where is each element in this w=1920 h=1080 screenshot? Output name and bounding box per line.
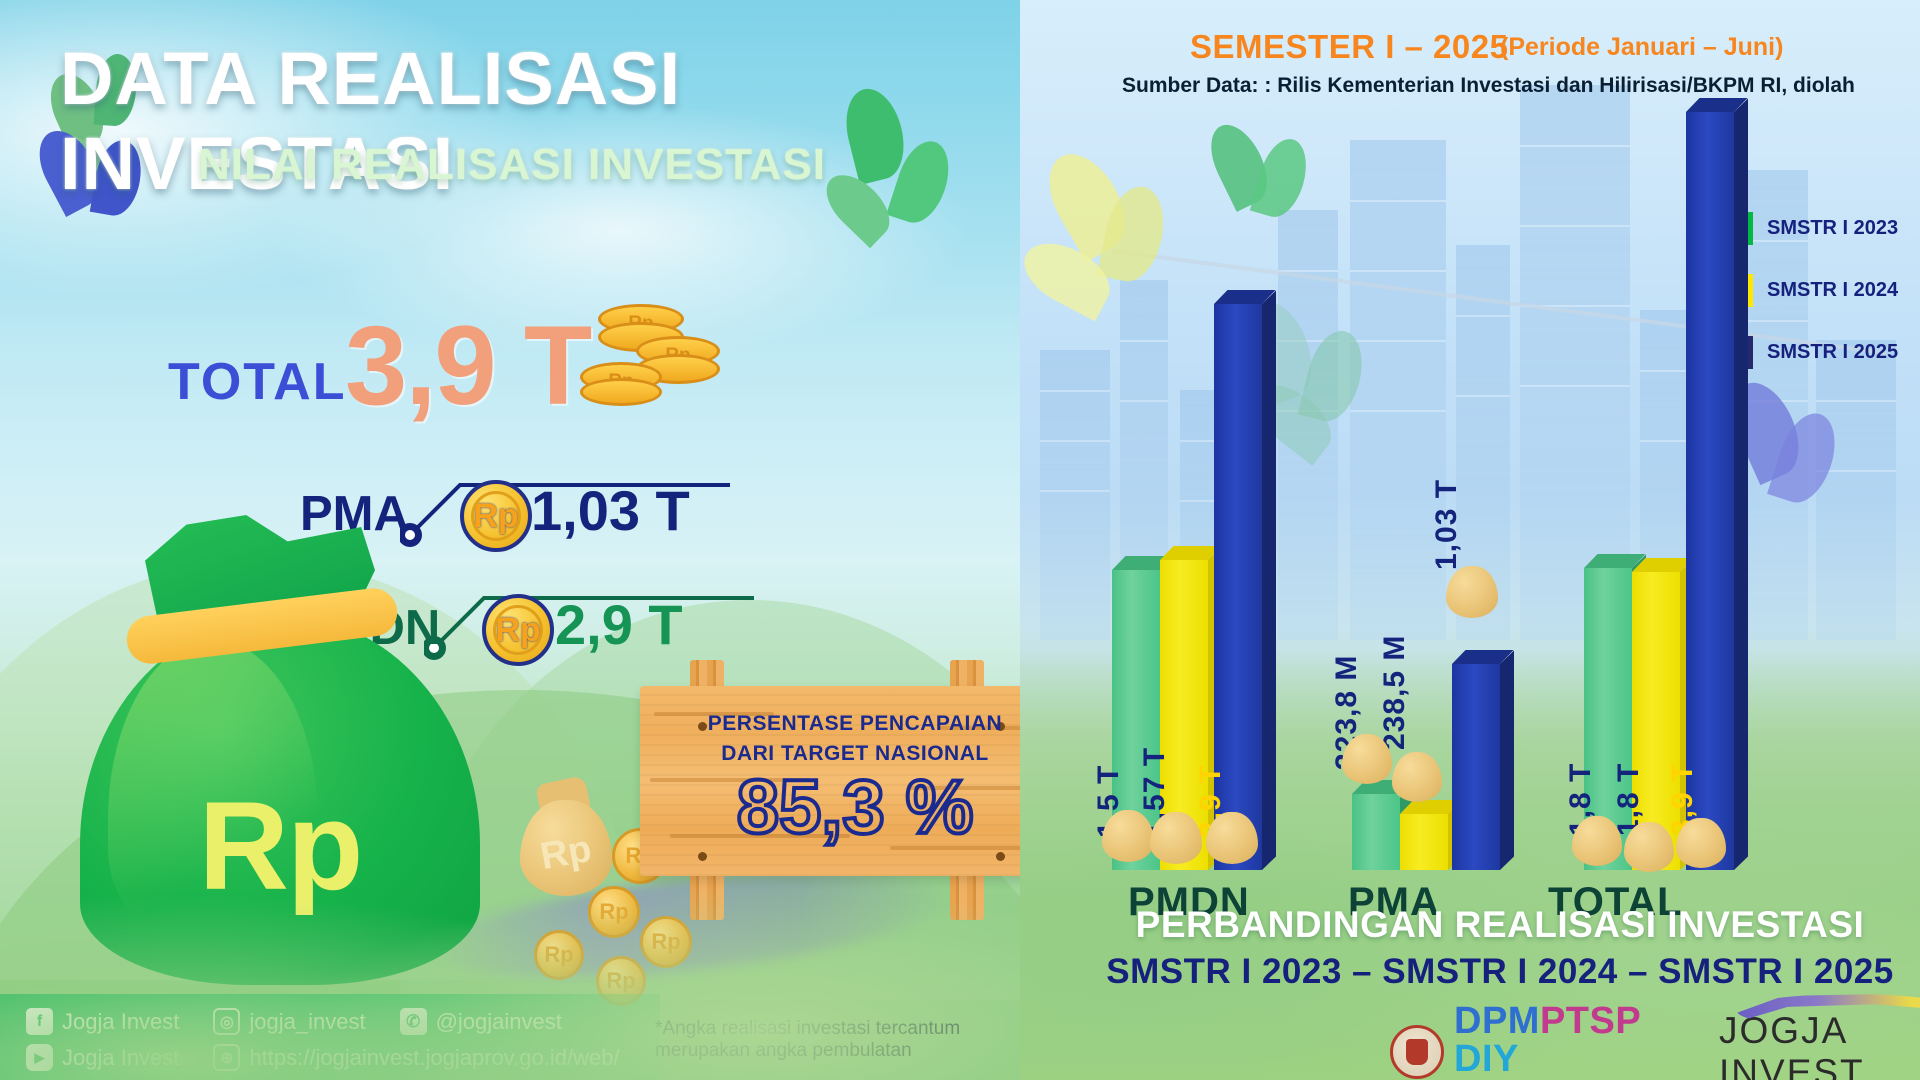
social-item-facebook[interactable]: f Jogja Invest <box>26 1008 179 1035</box>
footnote-text: *Angka realisasi investasi tercantum mer… <box>655 1018 1020 1062</box>
chart-caption-secondary: SMSTR I 2023 – SMSTR I 2024 – SMSTR I 20… <box>1105 952 1895 992</box>
social-item-youtube[interactable]: ▶ Jogja Invest <box>26 1044 179 1071</box>
semester-period: (Periode Januari – Juni) <box>1500 33 1783 62</box>
diy-emblem-icon <box>1390 1025 1444 1079</box>
pma-value: 1,03 T <box>531 478 690 543</box>
sign-nail <box>996 852 1005 861</box>
dpm-part-2: PTSP <box>1540 1000 1641 1042</box>
bar-side <box>1262 290 1276 870</box>
twitter-icon[interactable]: ✆ <box>400 1008 427 1035</box>
bar-bag-icon <box>1206 812 1258 864</box>
money-bag-icon: Rp <box>60 510 500 980</box>
dpmptsp-logo: DPMPTSP DIY DINAS PENANAMAN MODAL DAN PE… <box>1390 1002 1693 1080</box>
social-media-bar: f Jogja Invest ◎ jogja_invest ✆ @jogjain… <box>0 994 660 1080</box>
bar-face <box>1352 794 1400 870</box>
page-subtitle: NILAI REALISASI INVESTASI <box>198 140 998 190</box>
bar-bag-icon <box>1676 818 1726 868</box>
semester-title: SEMESTER I – 2025 <box>1190 28 1508 66</box>
facebook-icon[interactable]: f <box>26 1008 53 1035</box>
pmdn-value: 2,9 T <box>555 592 683 657</box>
social-label: https://jogjainvest.jogjaprov.go.id/web/ <box>249 1045 619 1071</box>
bar-bag-icon <box>1102 810 1154 862</box>
bar-face <box>1686 112 1734 870</box>
bar-face <box>1452 664 1500 870</box>
dpmptsp-name: DPMPTSP DIY <box>1454 1002 1693 1078</box>
sign-text-line-1: PERSENTASE PENCAPAIAN <box>640 712 1020 736</box>
social-label: @jogjainvest <box>436 1009 562 1035</box>
total-label: TOTAL <box>168 352 347 412</box>
social-row-2: ▶ Jogja Invest ⊕ https://jogjainvest.jog… <box>26 1044 646 1071</box>
bar-side <box>1500 650 1514 870</box>
social-item-instagram[interactable]: ◎ jogja_invest <box>213 1008 365 1035</box>
bag-rp-symbol: Rp <box>60 775 500 918</box>
bar-value-label: 238,5 M <box>1378 635 1412 750</box>
bar-chart: 1,5 T 1,57 T 2,9 T 323,8 M 238,5 M <box>1090 80 1810 870</box>
bar-bag-icon <box>1150 812 1202 864</box>
coin-icon: Rp <box>588 886 640 938</box>
jogja-invest-logo: JOGJA INVEST <box>1719 1010 1920 1080</box>
bar-bag-icon <box>1624 822 1674 872</box>
coin-icon: Rp <box>640 916 692 968</box>
bar-pma-2025: 1,03 T <box>1452 664 1500 870</box>
social-label: Jogja Invest <box>62 1045 179 1071</box>
coin-inner-ring <box>493 605 543 655</box>
social-row-1: f Jogja Invest ◎ jogja_invest ✆ @jogjain… <box>26 1008 588 1035</box>
social-item-website[interactable]: ⊕ https://jogjainvest.jogjaprov.go.id/we… <box>213 1044 619 1071</box>
bar-face <box>1400 814 1448 870</box>
bar-pma-2024: 238,5 M <box>1400 814 1448 870</box>
coin-disc <box>580 378 662 406</box>
jogja-invest-wordmark: JOGJA INVEST <box>1719 1010 1920 1080</box>
instagram-icon[interactable]: ◎ <box>213 1008 240 1035</box>
achievement-percentage: 85,3 % <box>640 764 1020 851</box>
sign-text-line-2: DARI TARGET NASIONAL <box>640 742 1020 766</box>
logo-bar: DPMPTSP DIY DINAS PENANAMAN MODAL DAN PE… <box>1390 1002 1920 1080</box>
bar-bag-icon <box>1342 734 1392 784</box>
social-label: Jogja Invest <box>62 1009 179 1035</box>
bar-side <box>1734 98 1748 870</box>
coin-stack-icon: Rp Rp Rp <box>580 300 720 410</box>
chart-caption-primary: PERBANDINGAN REALISASI INVESTASI <box>1105 904 1895 946</box>
bar-pma-2023: 323,8 M <box>1352 794 1400 870</box>
youtube-icon[interactable]: ▶ <box>26 1044 53 1071</box>
left-panel: DATA REALISASI INVESTASI NILAI REALISASI… <box>0 0 1020 1080</box>
social-item-twitter[interactable]: ✆ @jogjainvest <box>400 1008 562 1035</box>
social-label: jogja_invest <box>249 1009 365 1035</box>
target-achievement-sign: PERSENTASE PENCAPAIAN DARI TARGET NASION… <box>640 660 1020 920</box>
bar-bag-icon <box>1446 566 1498 618</box>
bar-bag-icon <box>1392 752 1442 802</box>
globe-icon[interactable]: ⊕ <box>213 1044 240 1071</box>
bar-total-2025: 3,9 T <box>1686 112 1734 870</box>
bar-value-label: 1,03 T <box>1430 479 1464 570</box>
infographic-root: DATA REALISASI INVESTASI NILAI REALISASI… <box>0 0 1920 1080</box>
sign-nail <box>698 852 707 861</box>
dpm-part-1: DPM <box>1454 1000 1540 1042</box>
dpm-part-3: DIY <box>1454 1038 1519 1080</box>
bar-pmdn-2025: 2,9 T <box>1214 304 1262 870</box>
coin-icon: Rp <box>534 930 584 980</box>
total-value: 3,9 T <box>345 310 590 422</box>
dpmptsp-logotype: DPMPTSP DIY DINAS PENANAMAN MODAL DAN PE… <box>1454 1002 1693 1080</box>
bar-bag-icon <box>1572 816 1622 866</box>
